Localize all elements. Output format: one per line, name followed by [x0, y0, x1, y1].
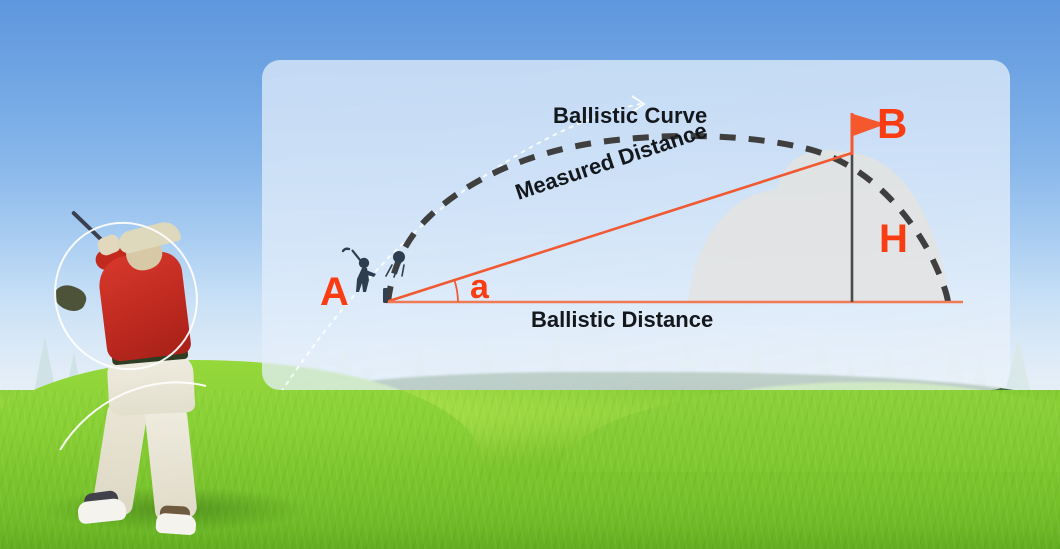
golfer-shoe-right	[155, 513, 196, 536]
swing-arc-overlay	[30, 200, 270, 480]
screenshot-root: Ballistic Curve Measured Distance Ballis…	[0, 0, 1060, 549]
golfer-shoe-left	[77, 498, 127, 525]
angle-marker: a	[470, 270, 489, 304]
golfer-swing-icon	[340, 246, 430, 310]
golf-ball-icon	[386, 251, 405, 277]
height-marker: H	[879, 217, 908, 262]
point-a-marker: A	[320, 270, 349, 315]
ballistic-distance-label: Ballistic Distance	[531, 307, 713, 333]
point-b-marker: B	[877, 100, 907, 148]
